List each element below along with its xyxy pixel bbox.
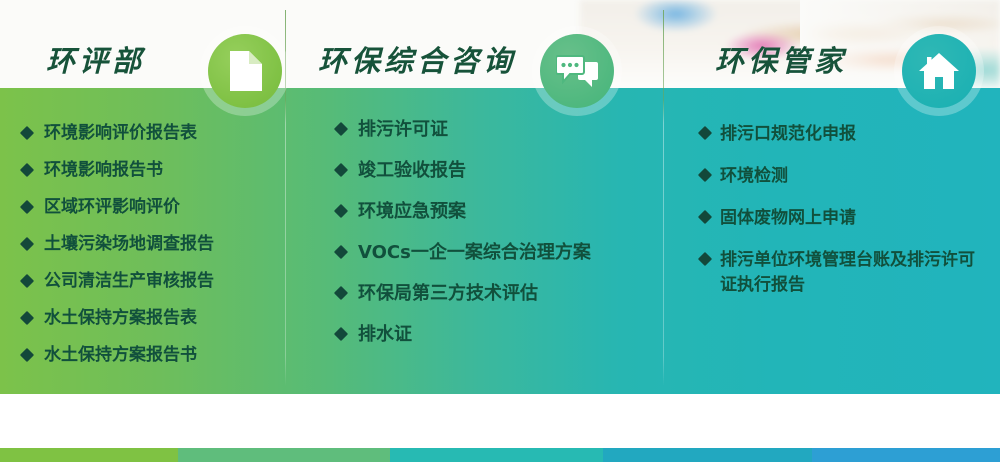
list-item-label: 公司清洁生产审核报告: [44, 270, 284, 292]
list-item[interactable]: 环境检测: [700, 164, 990, 189]
list-item[interactable]: 水土保持方案报告书: [22, 344, 284, 366]
diamond-bullet-icon: [334, 245, 348, 259]
list-column-1: 环境影响评价报告表环境影响报告书区域环评影响评价土壤污染场地调查报告公司清洁生产…: [22, 122, 284, 381]
diamond-bullet-icon: [20, 311, 34, 325]
footer-segment: [812, 448, 1000, 462]
list-item-label: 环保局第三方技术评估: [358, 282, 656, 305]
column-title-huan-bao-guan-jia: 环保管家: [715, 38, 847, 80]
list-item[interactable]: 水土保持方案报告表: [22, 307, 284, 329]
list-item-label: 排污口规范化申报: [720, 122, 990, 147]
list-item-label: 区域环评影响评价: [44, 196, 284, 218]
list-item-label: 排污许可证: [358, 118, 656, 141]
diamond-bullet-icon: [334, 327, 348, 341]
diamond-bullet-icon: [334, 163, 348, 177]
list-item[interactable]: 排污单位环境管理台账及排污许可证执行报告: [700, 248, 990, 298]
badge-chat: [540, 34, 614, 108]
list-item-label: 环境影响报告书: [44, 159, 284, 181]
list-item-label: 环境检测: [720, 164, 990, 189]
footer-segment: [603, 448, 812, 462]
list-item-label: 排水证: [358, 323, 656, 346]
list-item[interactable]: 竣工验收报告: [336, 159, 656, 182]
list-item-label: 环境应急预案: [358, 200, 656, 223]
list-item[interactable]: 排污口规范化申报: [700, 122, 990, 147]
list-item-label: 排污单位环境管理台账及排污许可证执行报告: [720, 248, 990, 298]
diamond-bullet-icon: [334, 204, 348, 218]
diamond-bullet-icon: [20, 200, 34, 214]
list-item[interactable]: 环境应急预案: [336, 200, 656, 223]
footer-segment: [178, 448, 390, 462]
chat-bubbles-icon: [556, 54, 598, 88]
list-item[interactable]: 排污许可证: [336, 118, 656, 141]
list-item[interactable]: 环保局第三方技术评估: [336, 282, 656, 305]
list-item[interactable]: 环境影响报告书: [22, 159, 284, 181]
diamond-bullet-icon: [334, 122, 348, 136]
list-column-2: 排污许可证竣工验收报告环境应急预案VOCs一企一案综合治理方案环保局第三方技术评…: [336, 118, 656, 364]
list-item[interactable]: VOCs一企一案综合治理方案: [336, 241, 656, 264]
diamond-bullet-icon: [698, 126, 712, 140]
diamond-bullet-icon: [20, 163, 34, 177]
badge-house: [902, 34, 976, 108]
diamond-bullet-icon: [20, 126, 34, 140]
footer-segment: [0, 448, 178, 462]
footer-color-segments: [0, 448, 1000, 462]
diamond-bullet-icon: [20, 348, 34, 362]
document-icon: [228, 51, 262, 91]
list-item-label: VOCs一企一案综合治理方案: [358, 241, 656, 264]
list-item-label: 环境影响评价报告表: [44, 122, 284, 144]
diamond-bullet-icon: [20, 237, 34, 251]
column-title-huan-bao-zong-he-zi-xun: 环保综合咨询: [318, 38, 516, 80]
poster-root: 环评部 环保综合咨询 环保管家 环境影响评价报告表环境影响报告书区域环评影响评价…: [0, 0, 1000, 462]
list-item[interactable]: 固体废物网上申请: [700, 206, 990, 231]
list-item[interactable]: 公司清洁生产审核报告: [22, 270, 284, 292]
list-item[interactable]: 排水证: [336, 323, 656, 346]
badge-document: [208, 34, 282, 108]
diamond-bullet-icon: [334, 286, 348, 300]
list-item-label: 水土保持方案报告表: [44, 307, 284, 329]
diamond-bullet-icon: [698, 252, 712, 266]
list-item-label: 土壤污染场地调查报告: [44, 233, 284, 255]
list-item[interactable]: 区域环评影响评价: [22, 196, 284, 218]
diamond-bullet-icon: [20, 274, 34, 288]
footer-segment: [390, 448, 603, 462]
diamond-bullet-icon: [698, 210, 712, 224]
list-item-label: 竣工验收报告: [358, 159, 656, 182]
footer-white-gap: [0, 394, 1000, 428]
list-column-3: 排污口规范化申报环境检测固体废物网上申请排污单位环境管理台账及排污许可证执行报告: [700, 122, 990, 315]
list-item-label: 水土保持方案报告书: [44, 344, 284, 366]
house-icon: [918, 52, 960, 90]
column-title-huan-ping-bu: 环评部: [46, 38, 145, 80]
list-item-label: 固体废物网上申请: [720, 206, 990, 231]
list-item[interactable]: 环境影响评价报告表: [22, 122, 284, 144]
list-item[interactable]: 土壤污染场地调查报告: [22, 233, 284, 255]
diamond-bullet-icon: [698, 168, 712, 182]
column-divider-2: [663, 10, 664, 386]
